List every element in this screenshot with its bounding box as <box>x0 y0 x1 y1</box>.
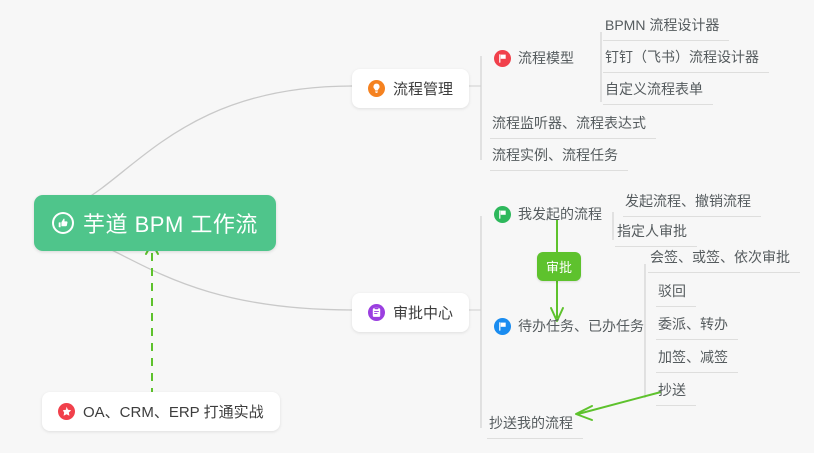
leaf-dingtalk-feishu-designer[interactable]: 钉钉（飞书）流程设计器 <box>603 44 769 73</box>
flag-icon <box>494 50 511 67</box>
node-label-my-initiated-processes: 我发起的流程 <box>518 204 602 224</box>
star-icon <box>58 403 75 420</box>
leaf-cc-my-processes[interactable]: 抄送我的流程 <box>487 410 583 439</box>
bottom-node-label: OA、CRM、ERP 打通实战 <box>83 401 264 422</box>
root-node[interactable]: 芋道 BPM 工作流 <box>34 195 276 251</box>
clipboard-icon <box>368 304 385 321</box>
node-todo-done-tasks[interactable]: 待办任务、已办任务 <box>492 313 654 341</box>
branch-node-process-management[interactable]: 流程管理 <box>352 69 469 108</box>
leaf-start-cancel-process[interactable]: 发起流程、撤销流程 <box>623 188 761 217</box>
bottom-node-oa-crm-erp[interactable]: OA、CRM、ERP 打通实战 <box>42 392 280 431</box>
leaf-assignee-approval[interactable]: 指定人审批 <box>615 218 697 247</box>
node-label-todo-done-tasks: 待办任务、已办任务 <box>518 316 644 336</box>
leaf-custom-process-form[interactable]: 自定义流程表单 <box>603 76 713 105</box>
leaf-process-instance-task[interactable]: 流程实例、流程任务 <box>490 142 628 171</box>
leaf-add-remove-sign[interactable]: 加签、减签 <box>656 344 738 373</box>
root-label: 芋道 BPM 工作流 <box>83 207 258 239</box>
leaf-delegate-transfer[interactable]: 委派、转办 <box>656 311 738 340</box>
arrow-cc-to-cc-my-process <box>578 392 661 414</box>
leaf-countersign-or-sequential[interactable]: 会签、或签、依次审批 <box>648 244 800 273</box>
node-my-initiated-processes[interactable]: 我发起的流程 <box>492 201 612 229</box>
leaf-process-listener-expression[interactable]: 流程监听器、流程表达式 <box>490 110 656 139</box>
approval-tag: 审批 <box>537 252 581 281</box>
branch-node-approval-center[interactable]: 审批中心 <box>352 293 469 332</box>
lightbulb-icon <box>368 80 385 97</box>
flag-icon <box>494 206 511 223</box>
thumbs-up-icon <box>52 212 74 234</box>
leaf-reject[interactable]: 驳回 <box>656 278 696 307</box>
branch-label-process-management: 流程管理 <box>393 78 453 99</box>
leaf-bpmn-designer[interactable]: BPMN 流程设计器 <box>603 12 729 41</box>
branch-label-approval-center: 审批中心 <box>393 302 453 323</box>
node-process-model[interactable]: 流程模型 <box>492 45 584 73</box>
leaf-cc[interactable]: 抄送 <box>656 377 696 406</box>
mindmap-canvas: 芋道 BPM 工作流 流程管理 流程模型 BPMN 流程设计器 钉钉（飞书）流程… <box>0 0 814 453</box>
node-label-process-model: 流程模型 <box>518 48 574 68</box>
flag-icon <box>494 318 511 335</box>
